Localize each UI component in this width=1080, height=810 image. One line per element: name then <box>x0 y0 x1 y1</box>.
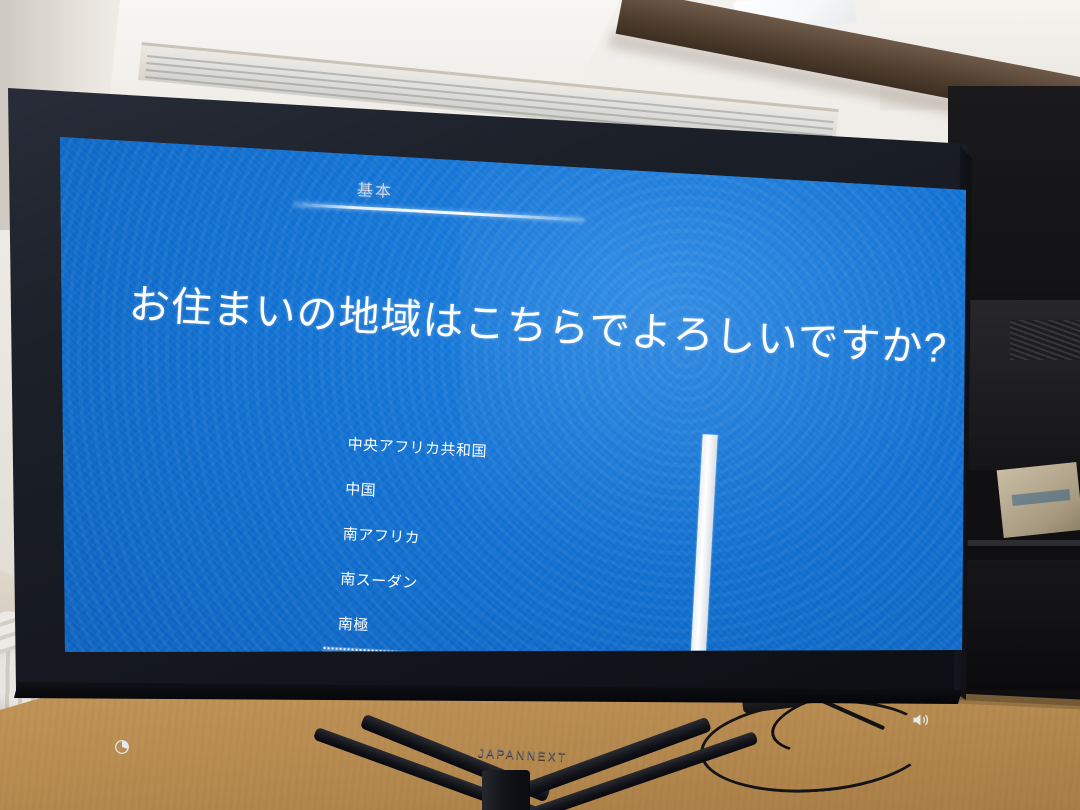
shelf-wires <box>1010 320 1080 360</box>
stand-neck <box>482 770 530 810</box>
volume-icon[interactable] <box>911 712 930 733</box>
osd-tab-label[interactable]: 基本 <box>356 176 393 202</box>
osd-active-tab-underline <box>294 203 584 222</box>
ease-of-access-icon[interactable] <box>113 738 131 761</box>
monitor: お住まいの地域はこちらでよろしいですか? 中央アフリカ共和国 中国 南アフリカ … <box>0 70 980 700</box>
page-title: お住まいの地域はこちらでよろしいですか? <box>128 270 970 375</box>
photo-scene: お住まいの地域はこちらでよろしいですか? 中央アフリカ共和国 中国 南アフリカ … <box>0 0 1080 810</box>
